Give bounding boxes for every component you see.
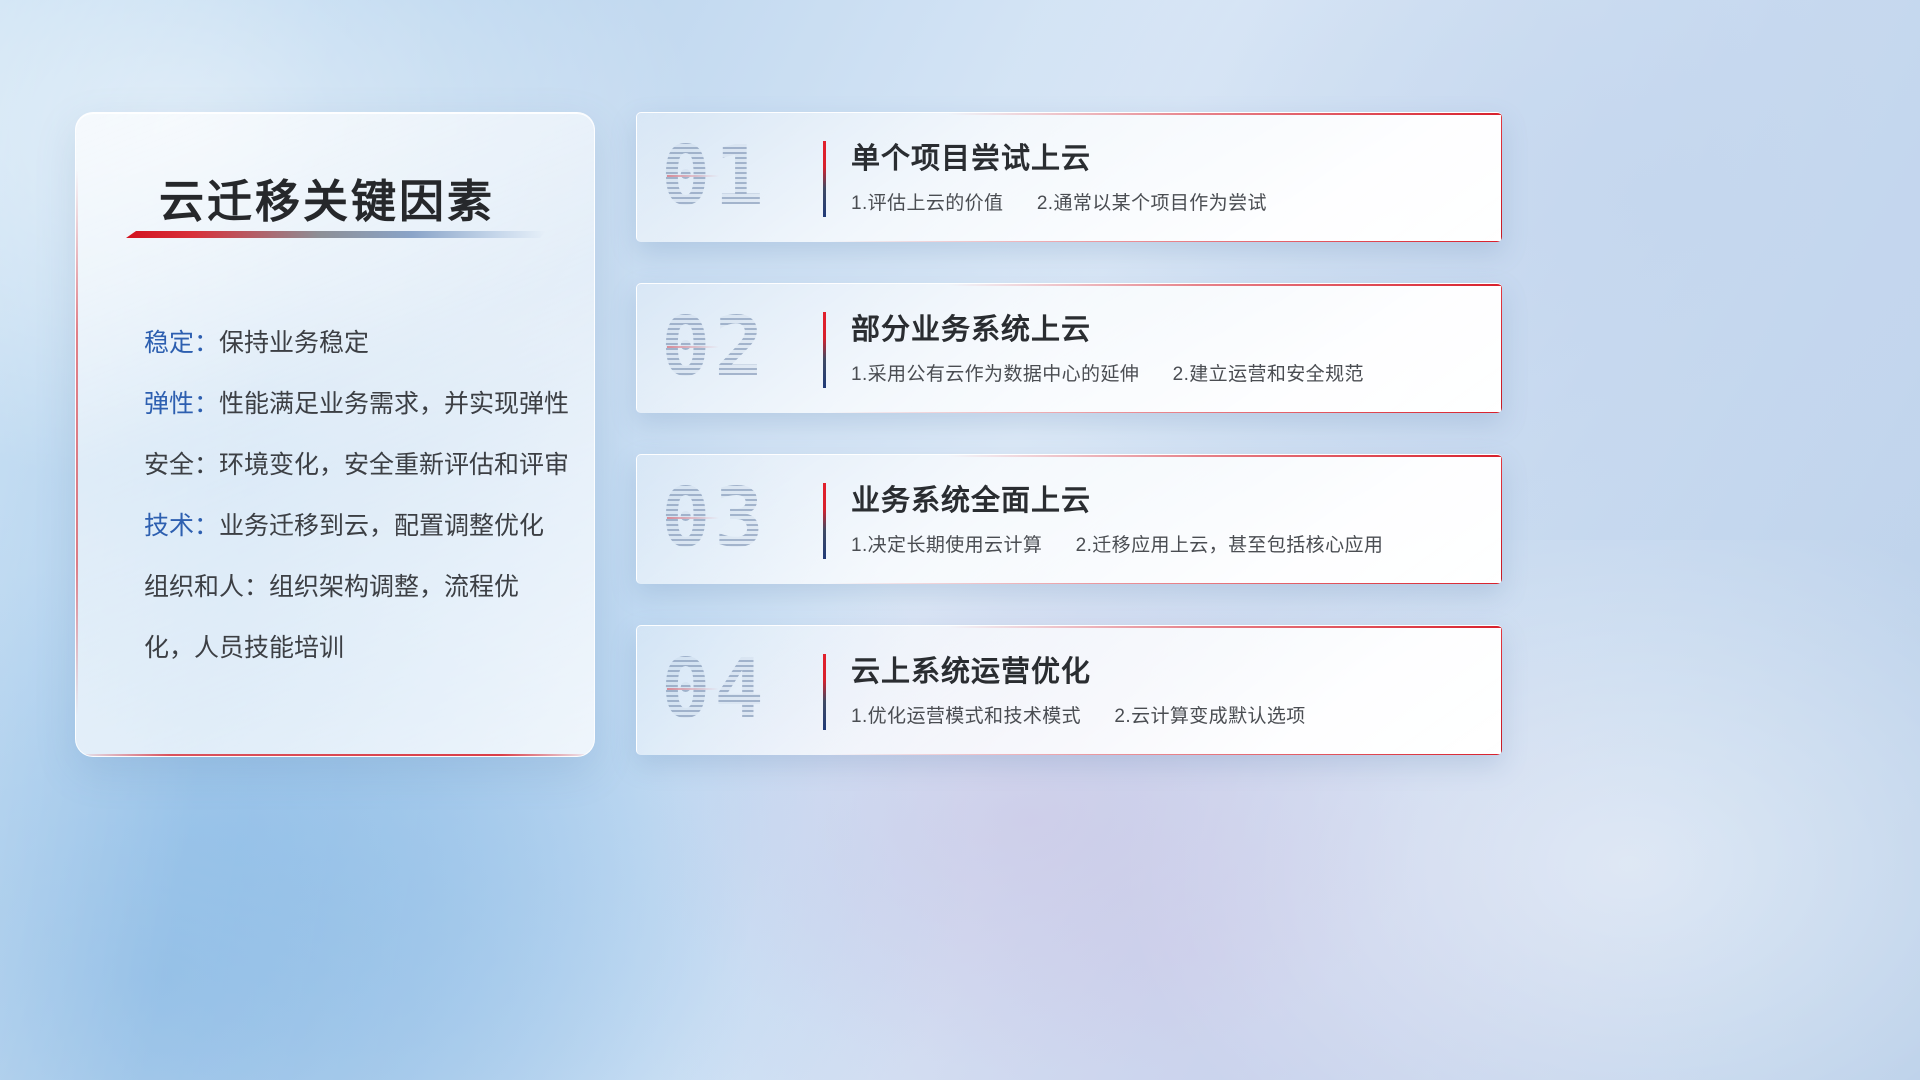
step-content: 云上系统运营优化 1.优化运营模式和技术模式 2.云计算变成默认选项 <box>851 652 1476 730</box>
step-card-04[interactable]: 04 04 云上系统运营优化 1.优化运营模式和技术模式 2.云计算变成默认选项 <box>636 625 1502 755</box>
step-number: 04 <box>661 640 768 740</box>
step-number-tick-icon <box>667 517 719 519</box>
step-point-2: 2.建立运营和安全规范 <box>1173 364 1364 385</box>
step-point-1: 1.决定长期使用云计算 <box>851 535 1042 556</box>
list-item: 安全：环境变化，安全重新评估和评审 <box>144 435 564 496</box>
list-item: 组织和人：组织架构调整，流程优化，人员技能培训 <box>144 557 564 679</box>
factor-text: 性能满足业务需求，并实现弹性 <box>219 390 569 418</box>
step-accent-bar <box>823 483 826 559</box>
card-bottom-accent <box>827 583 1502 585</box>
step-card-01[interactable]: 01 01 单个项目尝试上云 1.评估上云的价值 2.通常以某个项目作为尝试 <box>636 112 1502 242</box>
card-bottom-accent <box>827 754 1502 756</box>
step-points: 1.优化运营模式和技术模式 2.云计算变成默认选项 <box>851 704 1476 730</box>
factor-label: 组织和人： <box>144 573 269 601</box>
factor-label: 安全： <box>144 451 219 479</box>
step-number: 02 <box>661 298 768 398</box>
step-content: 业务系统全面上云 1.决定长期使用云计算 2.迁移应用上云，甚至包括核心应用 <box>851 481 1476 559</box>
factor-label: 技术： <box>144 512 219 540</box>
list-item: 稳定：保持业务稳定 <box>144 313 564 374</box>
step-number: 01 <box>661 127 768 227</box>
step-number: 03 <box>661 469 768 569</box>
step-point-2: 2.云计算变成默认选项 <box>1114 706 1305 727</box>
step-title: 部分业务系统上云 <box>851 310 1476 350</box>
step-title: 业务系统全面上云 <box>851 481 1476 521</box>
step-number-tick-icon <box>667 688 719 690</box>
step-accent-bar <box>823 654 826 730</box>
step-accent-bar <box>823 141 826 217</box>
key-factors-list: 稳定：保持业务稳定 弹性：性能满足业务需求，并实现弹性 安全：环境变化，安全重新… <box>144 313 564 679</box>
list-item: 技术：业务迁移到云，配置调整优化 <box>144 496 564 557</box>
step-title: 云上系统运营优化 <box>851 652 1476 692</box>
factor-text: 业务迁移到云，配置调整优化 <box>219 512 544 540</box>
step-point-1: 1.优化运营模式和技术模式 <box>851 706 1081 727</box>
step-points: 1.决定长期使用云计算 2.迁移应用上云，甚至包括核心应用 <box>851 533 1476 559</box>
step-card-03[interactable]: 03 03 业务系统全面上云 1.决定长期使用云计算 2.迁移应用上云，甚至包括… <box>636 454 1502 584</box>
factor-label: 弹性： <box>144 390 219 418</box>
step-point-1: 1.评估上云的价值 <box>851 193 1003 214</box>
factor-text: 环境变化，安全重新评估和评审 <box>219 451 569 479</box>
step-point-2: 2.迁移应用上云，甚至包括核心应用 <box>1076 535 1384 556</box>
card-bottom-accent <box>827 412 1502 414</box>
step-point-2: 2.通常以某个项目作为尝试 <box>1037 193 1267 214</box>
factor-text: 保持业务稳定 <box>219 329 369 357</box>
migration-steps-list: 01 01 单个项目尝试上云 1.评估上云的价值 2.通常以某个项目作为尝试 0… <box>636 112 1502 796</box>
step-title: 单个项目尝试上云 <box>851 139 1476 179</box>
step-accent-bar <box>823 312 826 388</box>
card-bottom-accent <box>827 241 1502 243</box>
step-content: 部分业务系统上云 1.采用公有云作为数据中心的延伸 2.建立运营和安全规范 <box>851 310 1476 388</box>
step-card-02[interactable]: 02 02 部分业务系统上云 1.采用公有云作为数据中心的延伸 2.建立运营和安… <box>636 283 1502 413</box>
key-factors-panel: 云迁移关键因素 稳定：保持业务稳定 弹性：性能满足业务需求，并实现弹性 安全：环… <box>75 112 595 757</box>
step-points: 1.采用公有云作为数据中心的延伸 2.建立运营和安全规范 <box>851 362 1476 388</box>
step-number-tick-icon <box>667 175 719 177</box>
step-point-1: 1.采用公有云作为数据中心的延伸 <box>851 364 1139 385</box>
step-points: 1.评估上云的价值 2.通常以某个项目作为尝试 <box>851 191 1476 217</box>
list-item: 弹性：性能满足业务需求，并实现弹性 <box>144 374 564 435</box>
step-number-tick-icon <box>667 346 719 348</box>
step-content: 单个项目尝试上云 1.评估上云的价值 2.通常以某个项目作为尝试 <box>851 139 1476 217</box>
slide-stage: 云迁移关键因素 稳定：保持业务稳定 弹性：性能满足业务需求，并实现弹性 安全：环… <box>0 0 1920 1080</box>
factor-label: 稳定： <box>144 329 219 357</box>
page-title: 云迁移关键因素 <box>159 165 495 230</box>
title-gradient-rule <box>126 231 546 238</box>
